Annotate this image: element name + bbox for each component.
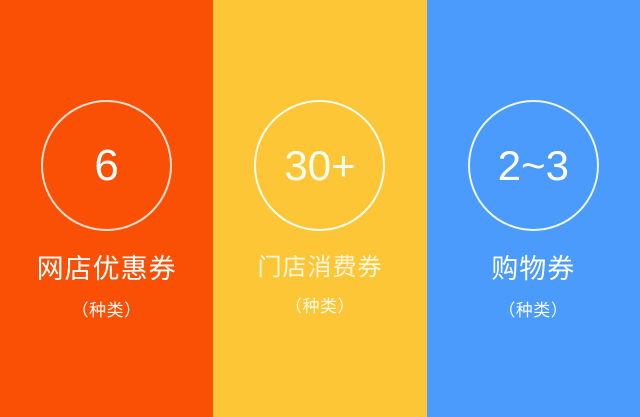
- label-main-online-store-coupon: 网店优惠券: [37, 255, 177, 285]
- circle-online-store-coupon: 6: [41, 100, 172, 231]
- panel-online-store-coupon: 6 网店优惠券 （种类）: [0, 0, 213, 417]
- circle-value-online-store-coupon: 6: [94, 144, 118, 188]
- label-sub-shopping-voucher: （种类）: [498, 296, 568, 321]
- label-main-shopping-voucher: 购物券: [491, 255, 575, 285]
- circle-in-store-consumption-voucher: 30+: [254, 100, 385, 231]
- label-sub-in-store-consumption-voucher: （种类）: [285, 292, 355, 317]
- label-main-in-store-consumption-voucher: 门店消费券: [257, 255, 382, 281]
- panel-shopping-voucher: 2~3 购物券 （种类）: [427, 0, 640, 417]
- panel-in-store-consumption-voucher: 30+ 门店消费券 （种类）: [213, 0, 426, 417]
- circle-shopping-voucher: 2~3: [468, 100, 599, 231]
- coupon-overview-infographic: 6 网店优惠券 （种类） 30+ 门店消费券 （种类） 2~3 购物券 （种类）: [0, 0, 640, 417]
- circle-value-shopping-voucher: 2~3: [498, 145, 569, 187]
- label-sub-online-store-coupon: （种类）: [72, 296, 142, 321]
- circle-value-in-store-consumption-voucher: 30+: [284, 145, 355, 187]
